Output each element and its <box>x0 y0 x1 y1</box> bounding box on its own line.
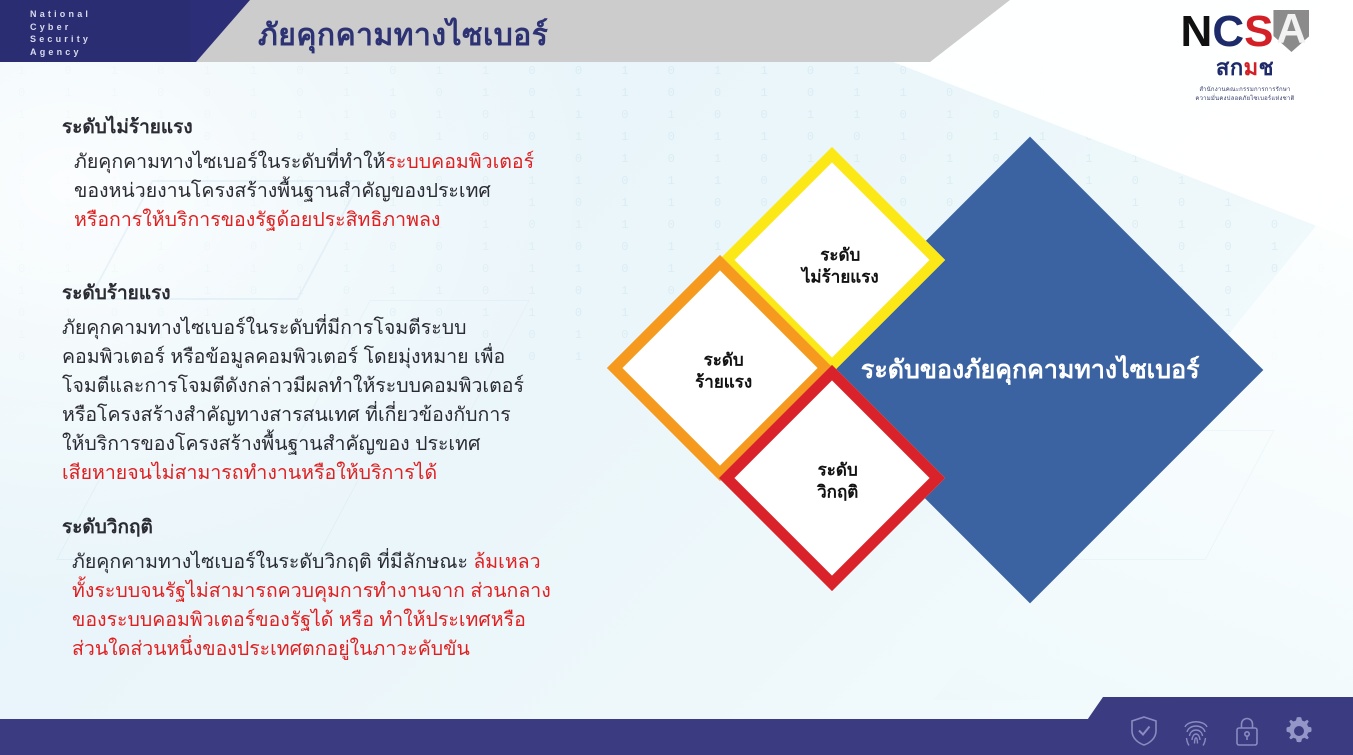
shield-check-icon <box>1129 715 1159 747</box>
text-run: ภัยคุกคามทางไซเบอร์ในระดับที่ทำให้ <box>74 151 385 173</box>
ncsa-logo-letters: N C S A <box>1165 6 1325 52</box>
section-low-severity: ระดับไม่ร้ายแรง ภัยคุกคามทางไซเบอร์ในระด… <box>62 112 602 235</box>
ncsa-thai-part-3: ช <box>1259 55 1274 80</box>
page-title: ภัยคุกคามทางไซเบอร์ <box>258 12 548 59</box>
section-low-body: ภัยคุกคามทางไซเบอร์ในระดับที่ทำให้ระบบคอ… <box>62 148 602 235</box>
text-run-red: ระบบคอมพิวเตอร์ <box>385 151 534 173</box>
diagram-node-severe-label: ระดับ ร้ายแรง <box>695 350 752 394</box>
section-severe-body: ภัยคุกคามทางไซเบอร์ในระดับที่มีการโจมตีร… <box>62 314 607 488</box>
text-run: หรือโครงสร้างสำคัญทางสารสนเทศ ที่เกี่ยวข… <box>62 404 511 426</box>
threat-level-diagram: ระดับของภัยคุกคามทางไซเบอร์ ระดับ ไม่ร้า… <box>600 130 1340 630</box>
text-run: โจมตีและการโจมตีดังกล่าวมีผลทำให้ระบบคอม… <box>62 375 524 397</box>
agency-name-line-3: Security <box>30 33 91 46</box>
section-low-heading: ระดับไม่ร้ายแรง <box>62 112 602 142</box>
ncsa-subtitle-line-2: ความมั่นคงปลอดภัยไซเบอร์แห่งชาติ <box>1165 95 1325 103</box>
text-run-red: หรือการให้บริการของรัฐด้อยประสิทธิภาพลง <box>74 209 440 231</box>
ncsa-letter-n: N <box>1181 12 1213 52</box>
diagram-node-critical-label: ระดับ วิกฤติ <box>817 460 858 504</box>
agency-name-block: National Cyber Security Agency <box>30 8 91 58</box>
text-run-red: ทั้งระบบจนรัฐไม่สามารถควบคุมการทำงานจาก … <box>72 580 551 602</box>
fingerprint-icon <box>1181 715 1211 747</box>
section-critical-heading: ระดับวิกฤติ <box>62 512 607 542</box>
slide-root: 1 0 1 0 1 1 0 1 0 1 1 0 0 1 0 1 1 0 1 0 … <box>0 0 1353 755</box>
text-run: ภัยคุกคามทางไซเบอร์ในระดับวิกฤติ ที่มีลั… <box>72 551 473 573</box>
gear-icon <box>1283 715 1315 747</box>
section-critical-body: ภัยคุกคามทางไซเบอร์ในระดับวิกฤติ ที่มีลั… <box>62 548 607 664</box>
header-navy-solid <box>0 0 190 62</box>
section-severe-heading: ระดับร้ายแรง <box>62 278 607 308</box>
ncsa-logo: N C S A สกมช สำนักงานคณะกรรมการการรักษา … <box>1165 6 1325 103</box>
ncsa-thai-part-2: ม <box>1244 55 1259 80</box>
text-run-red: ล้มเหลว <box>473 551 540 573</box>
text-run-red: ของระบบคอมพิวเตอร์ของรัฐได้ หรือ ทำให้ปร… <box>72 609 526 631</box>
text-run: ของหน่วยงานโครงสร้างพื้นฐานสำคัญของประเท… <box>74 180 491 202</box>
ncsa-subtitle-line-1: สำนักงานคณะกรรมการการรักษา <box>1165 86 1325 94</box>
agency-name-line-2: Cyber <box>30 21 91 34</box>
section-severe: ระดับร้ายแรง ภัยคุกคามทางไซเบอร์ในระดับท… <box>62 278 607 488</box>
footer-icon-group <box>1129 715 1315 747</box>
ncsa-letter-a: A <box>1273 8 1309 50</box>
lock-icon <box>1233 715 1261 747</box>
text-run-red: เสียหายจนไม่สามารถทำงานหรือให้บริการได้ <box>62 462 437 484</box>
ncsa-letter-c: C <box>1212 12 1244 52</box>
ncsa-letter-s: S <box>1244 12 1273 52</box>
ncsa-thai-part-1: สก <box>1216 55 1244 80</box>
diagram-center-label: ระดับของภัยคุกคามทางไซเบอร์ <box>861 350 1200 390</box>
section-critical: ระดับวิกฤติ ภัยคุกคามทางไซเบอร์ในระดับวิ… <box>62 512 607 664</box>
text-run: ให้บริการของโครงสร้างพื้นฐานสำคัญของ ประ… <box>62 433 480 455</box>
agency-name-line-1: National <box>30 8 91 21</box>
text-run: ภัยคุกคามทางไซเบอร์ในระดับที่มีการโจมตีร… <box>62 317 466 339</box>
agency-name-line-4: Agency <box>30 46 91 59</box>
text-run-red: ส่วนใดส่วนหนึ่งของประเทศตกอยู่ในภาวะคับข… <box>72 638 470 660</box>
text-run: คอมพิวเตอร์ หรือข้อมูลคอมพิวเตอร์ โดยมุ่… <box>62 346 505 368</box>
ncsa-letter-a-shield: A <box>1273 8 1309 52</box>
diagram-node-low-label: ระดับ ไม่ร้ายแรง <box>802 244 879 288</box>
